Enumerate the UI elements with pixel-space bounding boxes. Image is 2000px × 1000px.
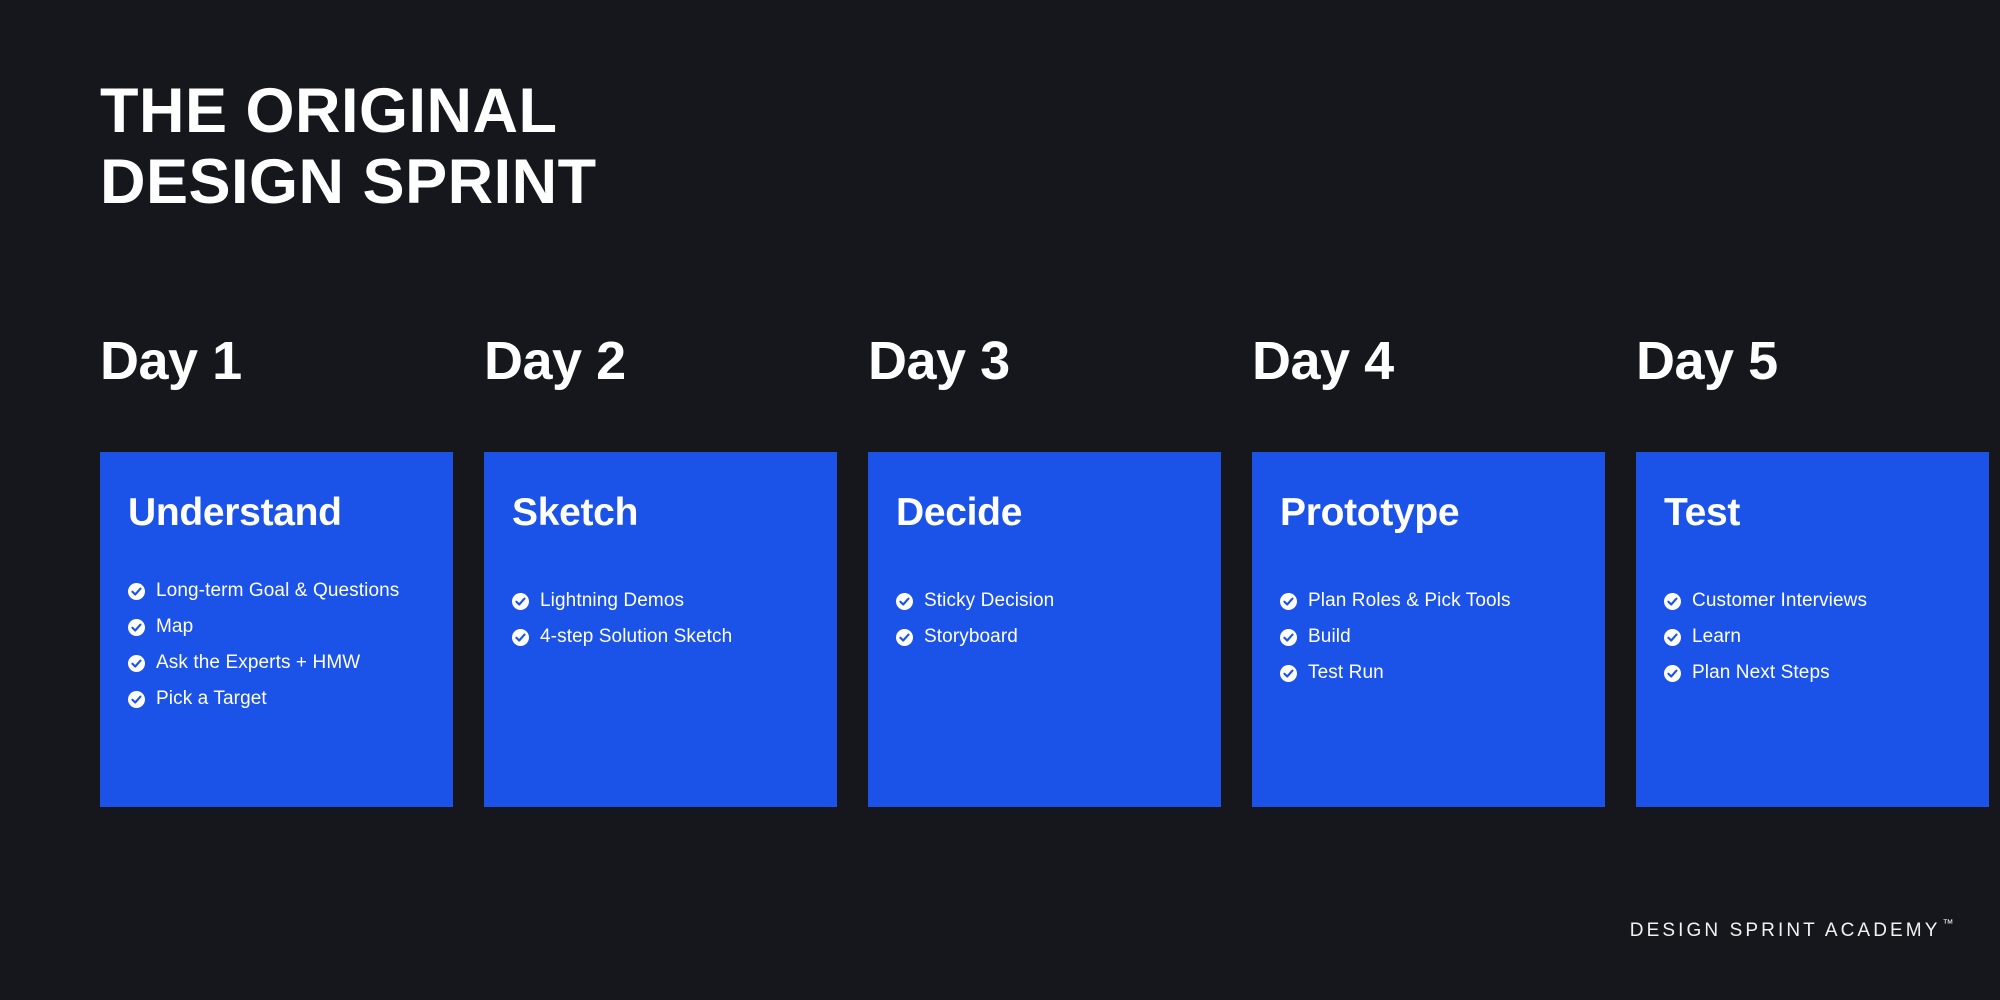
check-circle-icon bbox=[512, 593, 529, 610]
list-item: Plan Next Steps bbox=[1664, 662, 1969, 684]
activity-list-4: Plan Roles & Pick ToolsBuildTest Run bbox=[1280, 590, 1585, 684]
day-label-5: Day 5 bbox=[1636, 330, 1989, 392]
card-title-3: Decide bbox=[896, 490, 1195, 536]
list-item-label: Ask the Experts + HMW bbox=[156, 652, 360, 674]
check-circle-icon bbox=[1280, 629, 1297, 646]
list-item-label: Pick a Target bbox=[156, 688, 267, 710]
day-label-3: Day 3 bbox=[868, 330, 1221, 392]
day-label-1: Day 1 bbox=[100, 330, 453, 392]
check-circle-icon bbox=[128, 655, 145, 672]
list-item-label: Learn bbox=[1692, 626, 1741, 648]
day-card-4: PrototypePlan Roles & Pick ToolsBuildTes… bbox=[1252, 452, 1605, 807]
slide-canvas: THE ORIGINAL DESIGN SPRINT Day 1Day 2Day… bbox=[0, 0, 2000, 1000]
list-item: Storyboard bbox=[896, 626, 1201, 648]
list-item-label: Build bbox=[1308, 626, 1351, 648]
check-circle-icon bbox=[128, 691, 145, 708]
day-label-4: Day 4 bbox=[1252, 330, 1605, 392]
activity-list-5: Customer InterviewsLearnPlan Next Steps bbox=[1664, 590, 1969, 684]
check-circle-icon bbox=[896, 593, 913, 610]
activity-list-1: Long-term Goal & QuestionsMapAsk the Exp… bbox=[128, 580, 433, 710]
check-circle-icon bbox=[1280, 593, 1297, 610]
check-circle-icon bbox=[512, 629, 529, 646]
list-item: Sticky Decision bbox=[896, 590, 1201, 612]
check-circle-icon bbox=[1280, 665, 1297, 682]
check-circle-icon bbox=[1664, 629, 1681, 646]
list-item: Map bbox=[128, 616, 433, 638]
list-item-label: Plan Roles & Pick Tools bbox=[1308, 590, 1511, 612]
activity-list-3: Sticky DecisionStoryboard bbox=[896, 590, 1201, 648]
list-item-label: Storyboard bbox=[924, 626, 1018, 648]
list-item-label: Plan Next Steps bbox=[1692, 662, 1830, 684]
card-title-2: Sketch bbox=[512, 490, 811, 536]
activity-list-2: Lightning Demos4-step Solution Sketch bbox=[512, 590, 817, 648]
card-title-1: Understand bbox=[128, 490, 427, 536]
check-circle-icon bbox=[128, 619, 145, 636]
list-item-label: Sticky Decision bbox=[924, 590, 1054, 612]
day-card-1: UnderstandLong-term Goal & QuestionsMapA… bbox=[100, 452, 453, 807]
brand-logo: DESIGN SPRINT ACADEMY ™ bbox=[1630, 920, 1954, 942]
list-item: Long-term Goal & Questions bbox=[128, 580, 433, 602]
day-label-2: Day 2 bbox=[484, 330, 837, 392]
day-card-2: SketchLightning Demos4-step Solution Ske… bbox=[484, 452, 837, 807]
list-item: 4-step Solution Sketch bbox=[512, 626, 817, 648]
list-item-label: Customer Interviews bbox=[1692, 590, 1867, 612]
day-card-row: UnderstandLong-term Goal & QuestionsMapA… bbox=[100, 452, 2000, 807]
list-item-label: Test Run bbox=[1308, 662, 1384, 684]
title-line-2: DESIGN SPRINT bbox=[100, 147, 1000, 218]
day-label-row: Day 1Day 2Day 3Day 4Day 5 bbox=[100, 330, 2000, 392]
list-item: Test Run bbox=[1280, 662, 1585, 684]
trademark-symbol: ™ bbox=[1943, 919, 1955, 930]
list-item-label: 4-step Solution Sketch bbox=[540, 626, 732, 648]
check-circle-icon bbox=[1664, 593, 1681, 610]
page-title: THE ORIGINAL DESIGN SPRINT bbox=[100, 76, 1000, 218]
list-item: Pick a Target bbox=[128, 688, 433, 710]
list-item-label: Long-term Goal & Questions bbox=[156, 580, 399, 602]
day-card-5: TestCustomer InterviewsLearnPlan Next St… bbox=[1636, 452, 1989, 807]
list-item: Lightning Demos bbox=[512, 590, 817, 612]
list-item: Build bbox=[1280, 626, 1585, 648]
list-item: Customer Interviews bbox=[1664, 590, 1969, 612]
check-circle-icon bbox=[896, 629, 913, 646]
brand-name: DESIGN SPRINT ACADEMY bbox=[1630, 920, 1941, 942]
title-line-1: THE ORIGINAL bbox=[100, 76, 1000, 147]
list-item: Learn bbox=[1664, 626, 1969, 648]
list-item-label: Map bbox=[156, 616, 193, 638]
check-circle-icon bbox=[1664, 665, 1681, 682]
list-item: Plan Roles & Pick Tools bbox=[1280, 590, 1585, 612]
check-circle-icon bbox=[128, 583, 145, 600]
list-item: Ask the Experts + HMW bbox=[128, 652, 433, 674]
card-title-4: Prototype bbox=[1280, 490, 1579, 536]
day-card-3: DecideSticky DecisionStoryboard bbox=[868, 452, 1221, 807]
card-title-5: Test bbox=[1664, 490, 1963, 536]
list-item-label: Lightning Demos bbox=[540, 590, 684, 612]
